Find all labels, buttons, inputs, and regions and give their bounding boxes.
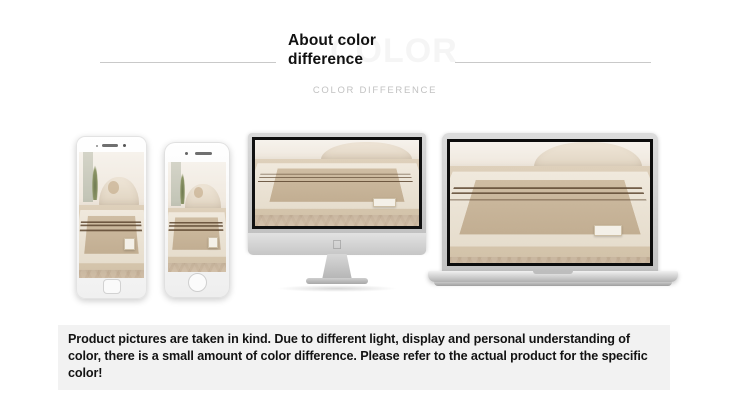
rug-stripe <box>260 173 410 174</box>
imac-shadow <box>277 285 397 292</box>
page-subtitle: COLOR DIFFERENCE <box>258 85 492 96</box>
macbook-lid <box>442 133 658 273</box>
macbook-glass <box>447 139 653 266</box>
device-phone-iphone <box>164 142 230 298</box>
rug-stripe <box>169 229 224 230</box>
rug-photo-portrait <box>168 162 226 272</box>
rug-stripe <box>450 199 646 200</box>
device-showcase:  <box>0 118 750 313</box>
phone-earpiece-icon <box>102 144 118 147</box>
rug-stripe <box>257 181 412 182</box>
phone-camera-icon <box>185 152 188 155</box>
rug-price-tag <box>373 198 396 207</box>
rug-stripe <box>170 222 223 223</box>
macbook-notch <box>533 271 573 274</box>
rug-stripe <box>80 230 142 231</box>
rug-stripe <box>169 225 223 226</box>
macbook-foot <box>434 282 672 286</box>
phone-home-button[interactable] <box>103 279 121 294</box>
phone-android-screen <box>79 152 144 278</box>
rug-stripe <box>81 221 141 222</box>
photo-plant <box>180 173 185 204</box>
device-macbook-laptop <box>428 133 678 298</box>
note-text: Product pictures are taken in kind. Due … <box>68 331 664 382</box>
phone-home-button[interactable] <box>188 273 207 292</box>
rug-price-tag <box>124 238 134 250</box>
photo-rug <box>168 208 226 263</box>
apple-logo-icon:  <box>332 238 342 251</box>
phone-earpiece-icon <box>195 152 212 155</box>
rug-stripe <box>80 225 141 226</box>
device-imac-desktop:  <box>248 133 426 298</box>
rug-stripe <box>453 188 642 189</box>
phone-camera-icon <box>123 144 126 147</box>
header-title-block: About color difference <box>288 31 468 69</box>
photo-plant <box>92 165 98 200</box>
rug-stripe <box>451 192 643 193</box>
page-title: About color difference <box>288 31 400 69</box>
header-divider-left <box>100 62 276 63</box>
rug-stripe <box>259 176 411 177</box>
page-header: COLOR About color difference COLOR DIFFE… <box>0 0 750 118</box>
photo-pillow <box>108 181 119 194</box>
device-phone-android <box>76 136 147 299</box>
header-divider-right <box>455 62 651 63</box>
imac-stand-neck <box>322 254 352 280</box>
phone-sensor-icon <box>96 145 98 147</box>
macbook-screen <box>450 142 650 263</box>
color-difference-note: Product pictures are taken in kind. Due … <box>58 325 670 390</box>
imac-screen <box>255 140 419 226</box>
rug-photo-portrait <box>79 152 144 278</box>
rug-price-tag <box>594 225 622 237</box>
rug-photo-landscape <box>450 142 650 263</box>
photo-rug <box>450 166 650 257</box>
phone-iphone-screen <box>168 162 226 272</box>
rug-photo-landscape <box>255 140 419 226</box>
imac-glass <box>252 137 422 229</box>
imac-stand-base <box>306 278 368 284</box>
rug-price-tag <box>208 237 218 248</box>
